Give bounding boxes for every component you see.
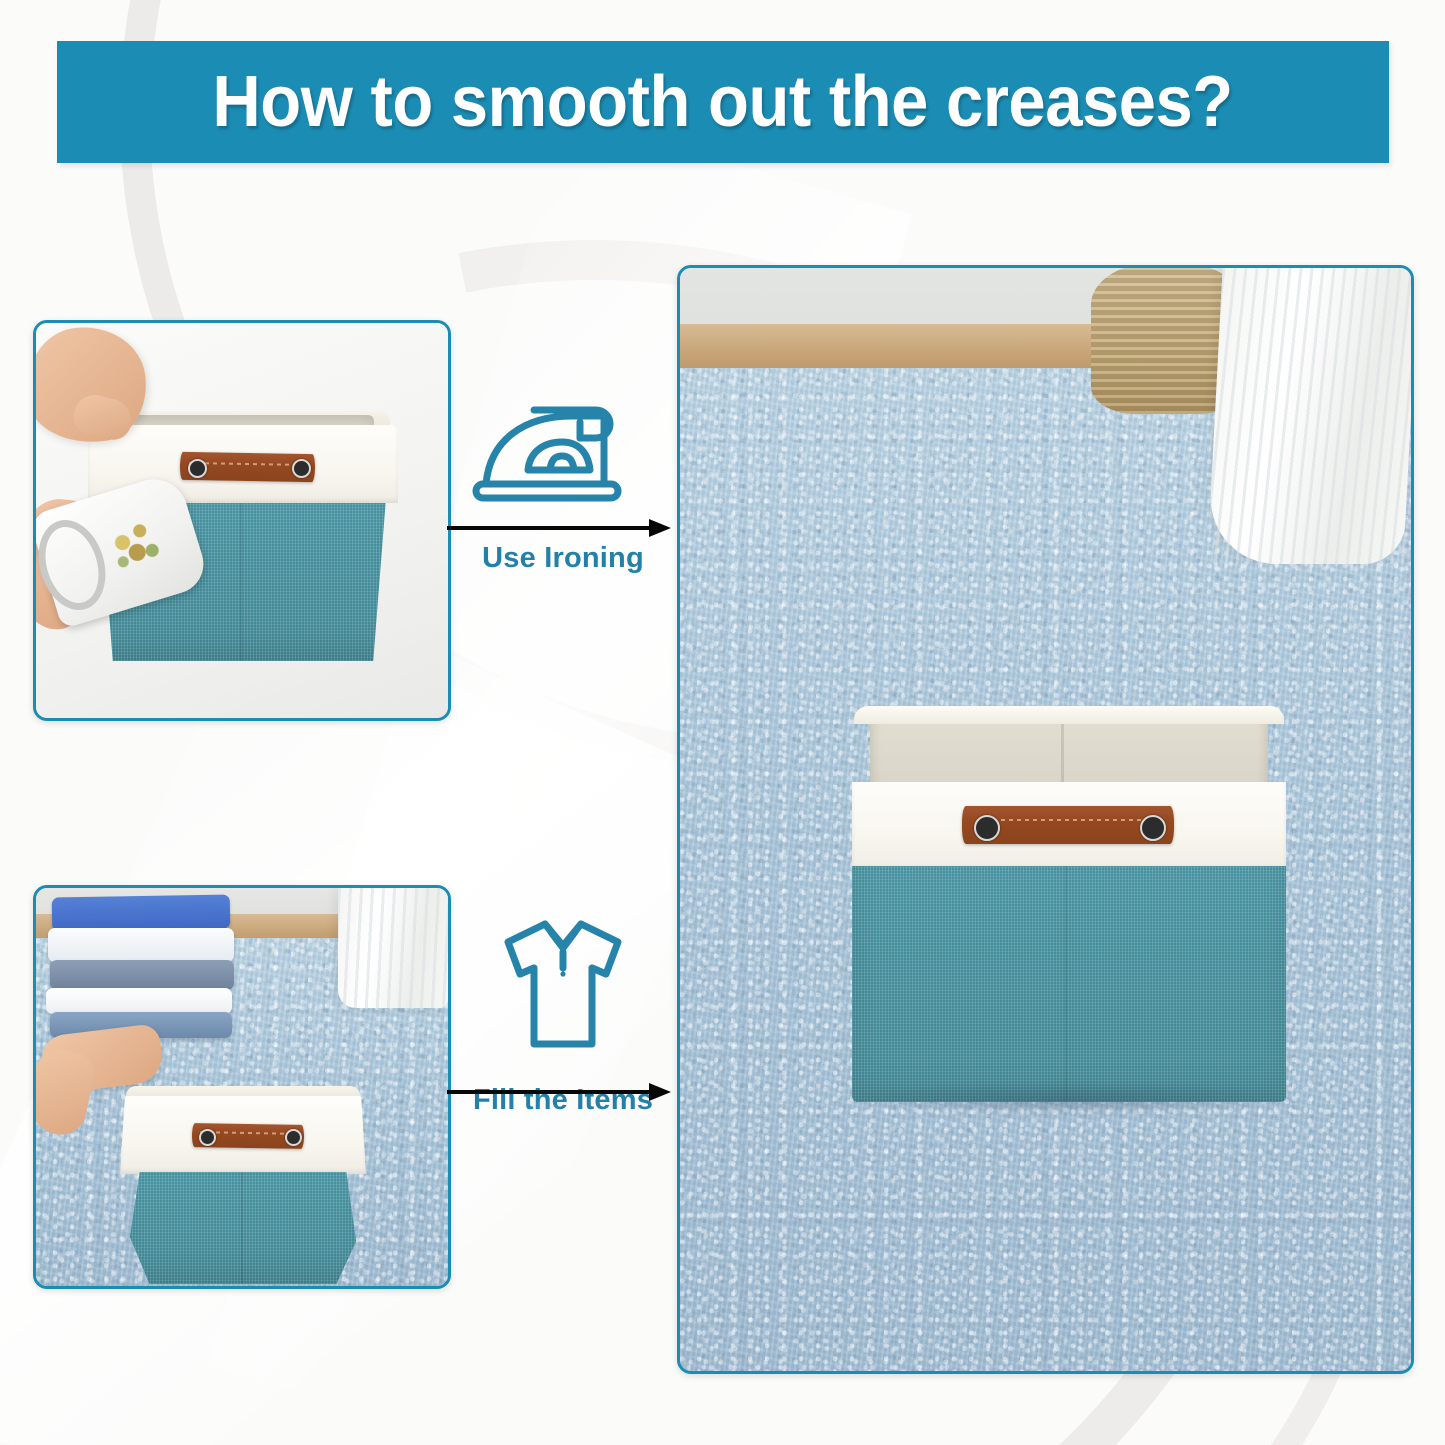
ironing-basket-photo (33, 320, 451, 721)
curtain (338, 888, 448, 1008)
folded-cloth-blue (52, 894, 231, 931)
basket-teal-body (852, 866, 1286, 1102)
basket-teal-body (120, 1172, 366, 1284)
handle-grommet-right (1140, 815, 1166, 841)
step-use-ironing: Use Ironing (447, 392, 679, 575)
right-arrow-icon-ironing (447, 518, 671, 538)
clothes-iron-icon (447, 392, 679, 504)
step-label-use-ironing: Use Ironing (447, 542, 679, 575)
page-title: How to smooth out the creases? (213, 61, 1233, 143)
handle-grommet-right (285, 1129, 302, 1146)
folded-cloth-gray (50, 960, 234, 990)
basket-rim (854, 706, 1284, 724)
basket-shadow (840, 1082, 1298, 1116)
result-basket-photo (677, 265, 1414, 1374)
iron-floral-print (98, 506, 175, 583)
handle-grommet-left (188, 459, 207, 478)
handle-grommet-right (292, 459, 311, 478)
infographic-page: How to smooth out the creases? (0, 0, 1445, 1445)
handle-grommet-left (199, 1129, 216, 1146)
handle-grommet-left (974, 815, 1000, 841)
folded-cloth-white (48, 928, 234, 962)
title-banner: How to smooth out the creases? (57, 41, 1389, 163)
folded-cloth-white-2 (46, 988, 232, 1014)
folded-clothes-photo (33, 885, 451, 1289)
polo-shirt-icon (447, 912, 679, 1062)
curtain (1207, 268, 1411, 564)
right-arrow-icon-fill (447, 1082, 671, 1102)
